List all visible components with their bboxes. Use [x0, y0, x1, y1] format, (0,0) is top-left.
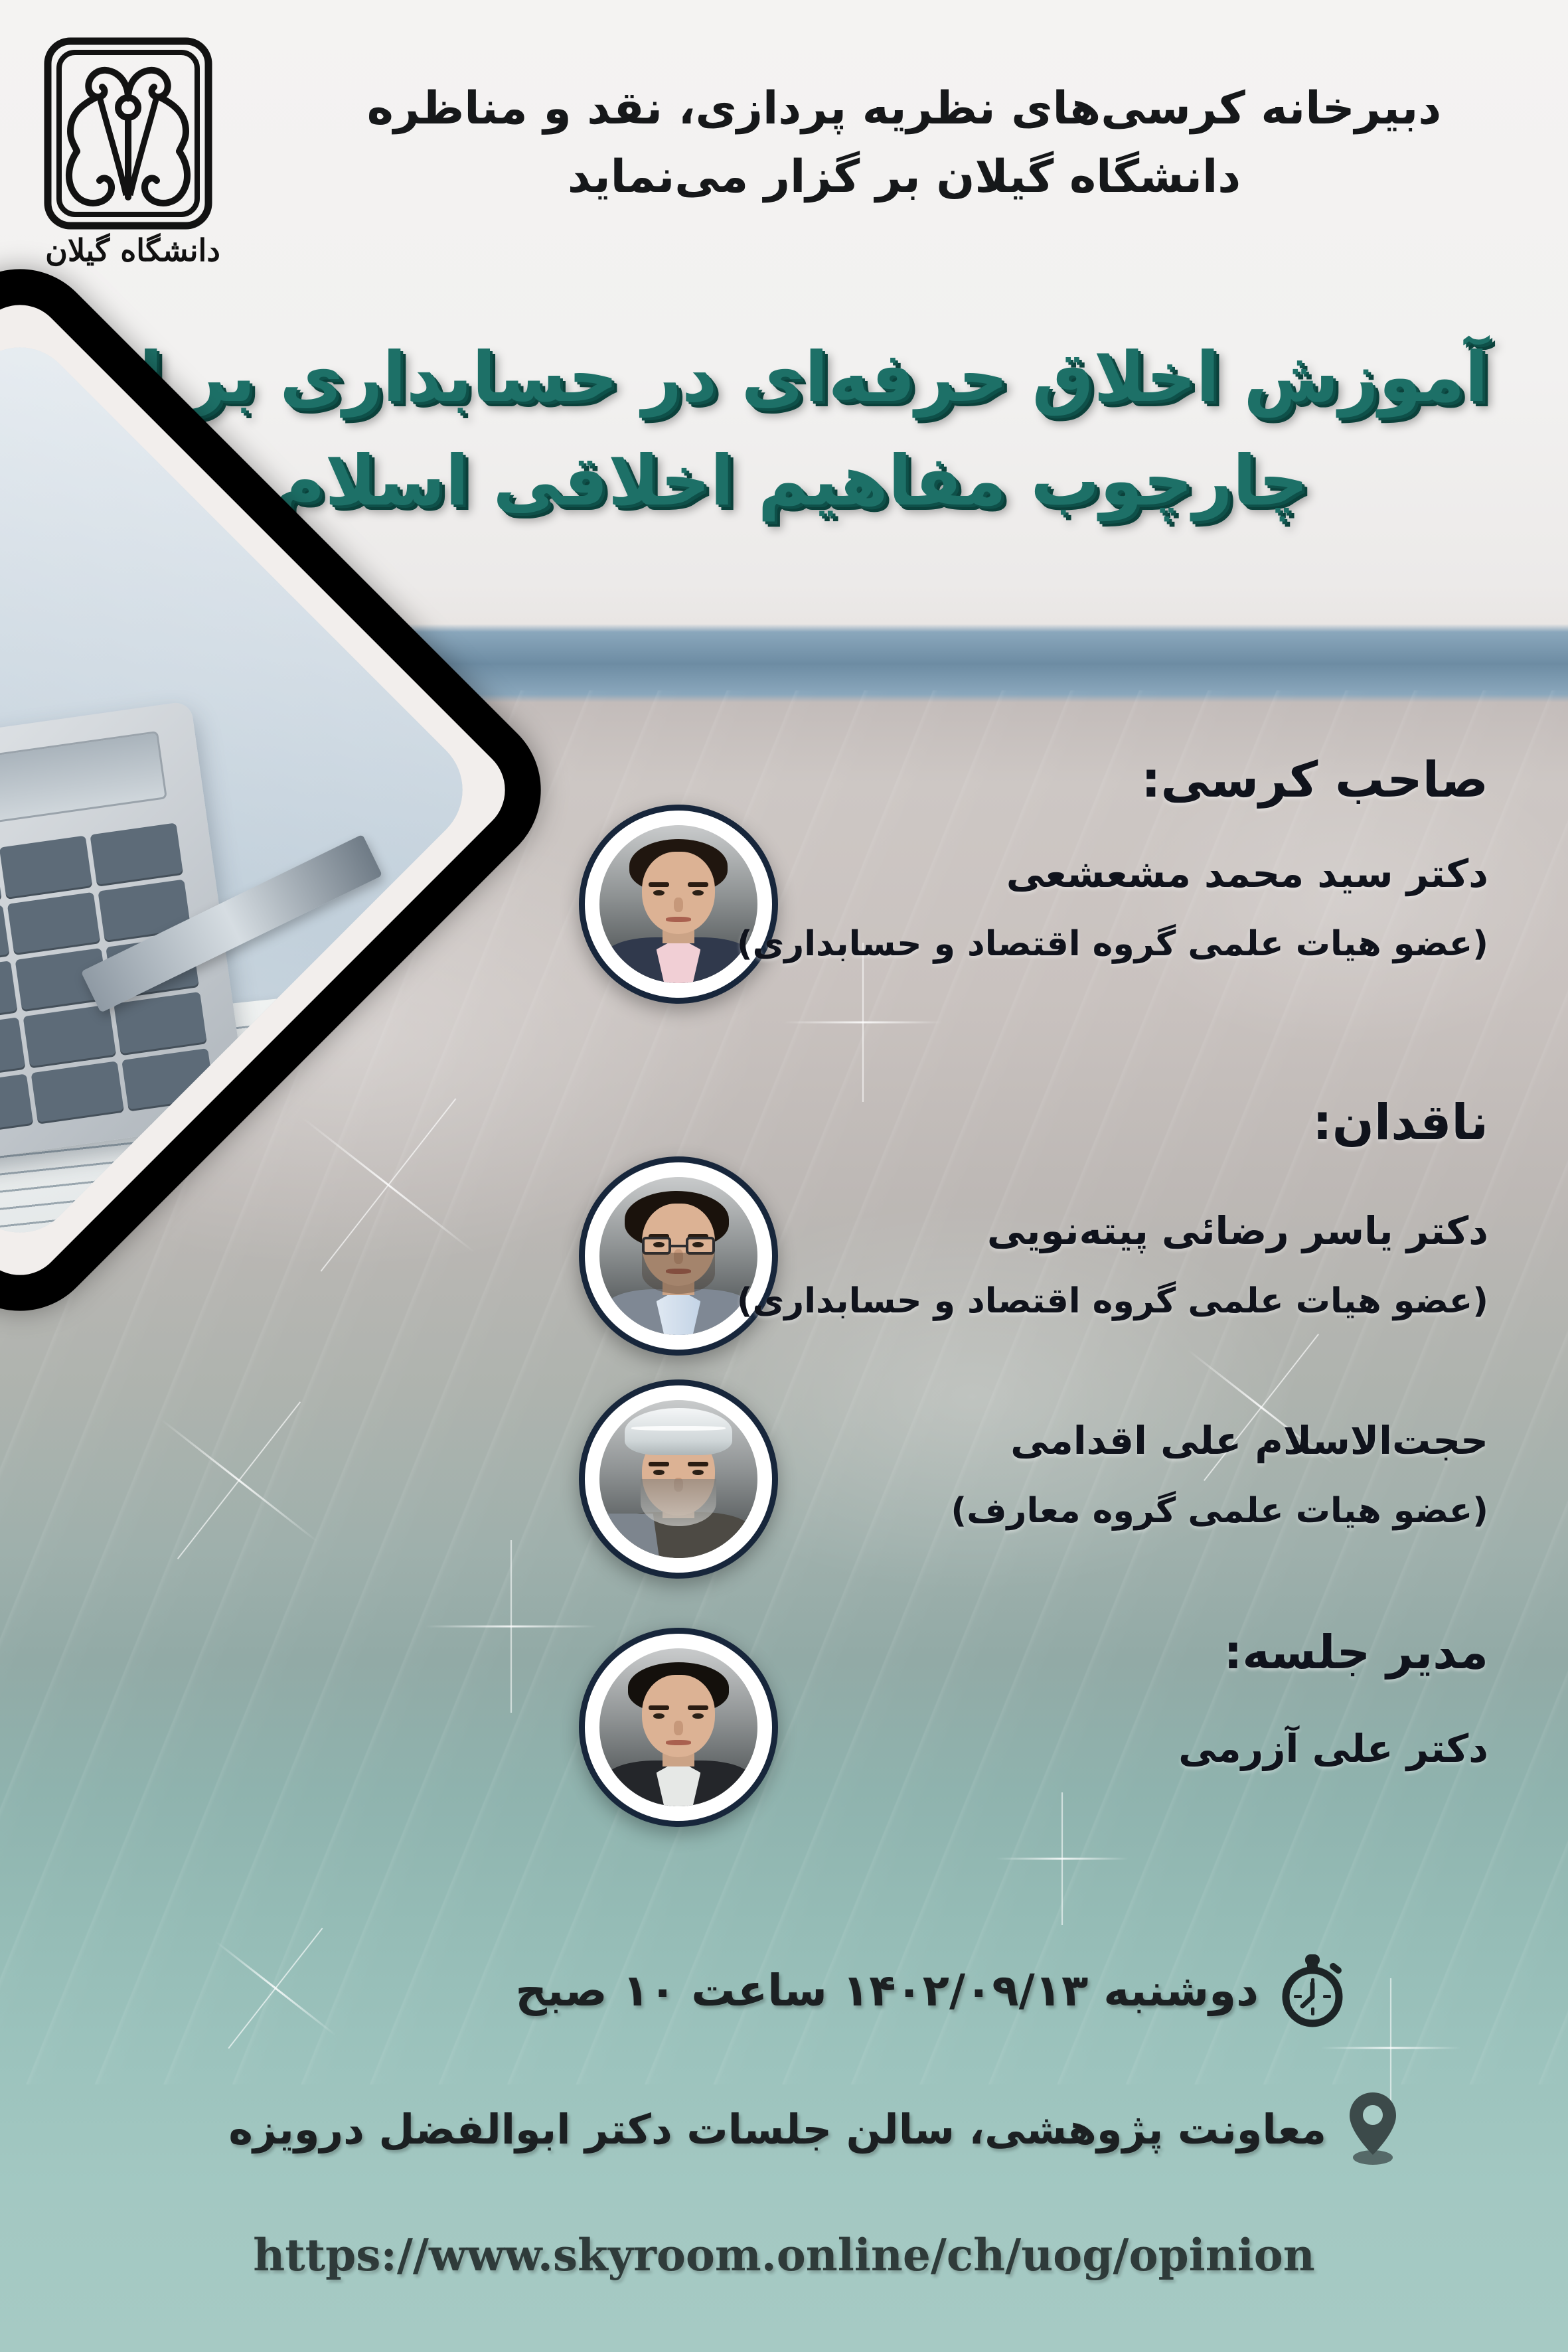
event-location: معاونت پژوهشی، سالن جلسات دکتر ابوالفضل …	[228, 2105, 1326, 2154]
section-label-critics: ناقدان:	[1312, 1094, 1488, 1151]
university-logo: دانشگاه گیلان	[32, 35, 231, 300]
avatar	[579, 1156, 778, 1356]
event-poster: دانشگاه گیلان دبیرخانه کرسی‌های نظریه پر…	[0, 0, 1568, 2352]
sparkle-icon	[1168, 1314, 1354, 1500]
portrait-eghdami	[599, 1400, 757, 1558]
organizer-header: دبیرخانه کرسی‌های نظریه پردازی، نقد و من…	[340, 74, 1468, 212]
section-name-chair: دکتر سید محمد مشعشعی	[1006, 851, 1488, 896]
section-name-critic-2: حجت‌الاسلام علی اقدامی	[1010, 1418, 1488, 1463]
portrait-mashayekhi	[599, 825, 757, 983]
section-name-manager: دکتر علی آزرمی	[1178, 1726, 1488, 1771]
organizer-line-1: دبیرخانه کرسی‌های نظریه پردازی، نقد و من…	[340, 74, 1468, 143]
map-pin-icon	[1344, 2088, 1402, 2169]
sparkle-icon	[139, 1381, 339, 1580]
section-label-chair: صاحب کرسی:	[1141, 751, 1488, 809]
section-affiliation-critic-1: (عضو هیات علمی گروه اقتصاد و حسابداری)	[737, 1281, 1488, 1321]
avatar	[579, 805, 778, 1004]
guilan-university-logo-icon	[39, 35, 218, 234]
portrait-rezaei-pitenoei	[599, 1177, 757, 1335]
event-url[interactable]: https://www.skyroom.online/ch/uog/opinio…	[0, 2229, 1568, 2281]
event-datetime: دوشنبه ۱۴۰۲/۰۹/۱۳ ساعت ۱۰ صبح	[515, 1965, 1259, 2016]
university-name: دانشگاه گیلان	[33, 232, 232, 268]
sparkle-icon	[783, 943, 943, 1102]
title-line-1: آموزش اخلاق حرفه‌ای در حسابداری بر اساس	[94, 325, 1488, 429]
sparkle-icon	[996, 1792, 1129, 1925]
sparkle-icon	[279, 1075, 498, 1294]
title-line-2: چارچوب مفاهیم اخلاقی اسلام	[94, 429, 1488, 532]
location-row: معاونت پژوهشی، سالن جلسات دکتر ابوالفضل …	[194, 2088, 1402, 2169]
page-title: آموزش اخلاق حرفه‌ای در حسابداری بر اساس …	[94, 325, 1488, 532]
avatar	[579, 1379, 778, 1579]
avatar	[579, 1628, 778, 1827]
sparkle-icon	[425, 1540, 597, 1713]
section-affiliation-critic-2: (عضو هیات علمی گروه معارف)	[951, 1491, 1488, 1531]
stopwatch-icon	[1276, 1949, 1349, 2031]
portrait-azarmi	[599, 1648, 757, 1806]
section-label-manager: مدیر جلسه:	[1223, 1625, 1488, 1680]
datetime-row: دوشنبه ۱۴۰۲/۰۹/۱۳ ساعت ۱۰ صبح	[220, 1949, 1349, 2031]
section-affiliation-chair: (عضو هیات علمی گروه اقتصاد و حسابداری)	[737, 924, 1488, 964]
section-name-critic-1: دکتر یاسر رضائی پیته‌نویی	[987, 1208, 1488, 1253]
organizer-line-2: دانشگاه گیلان بر گزار می‌نماید	[340, 143, 1468, 211]
